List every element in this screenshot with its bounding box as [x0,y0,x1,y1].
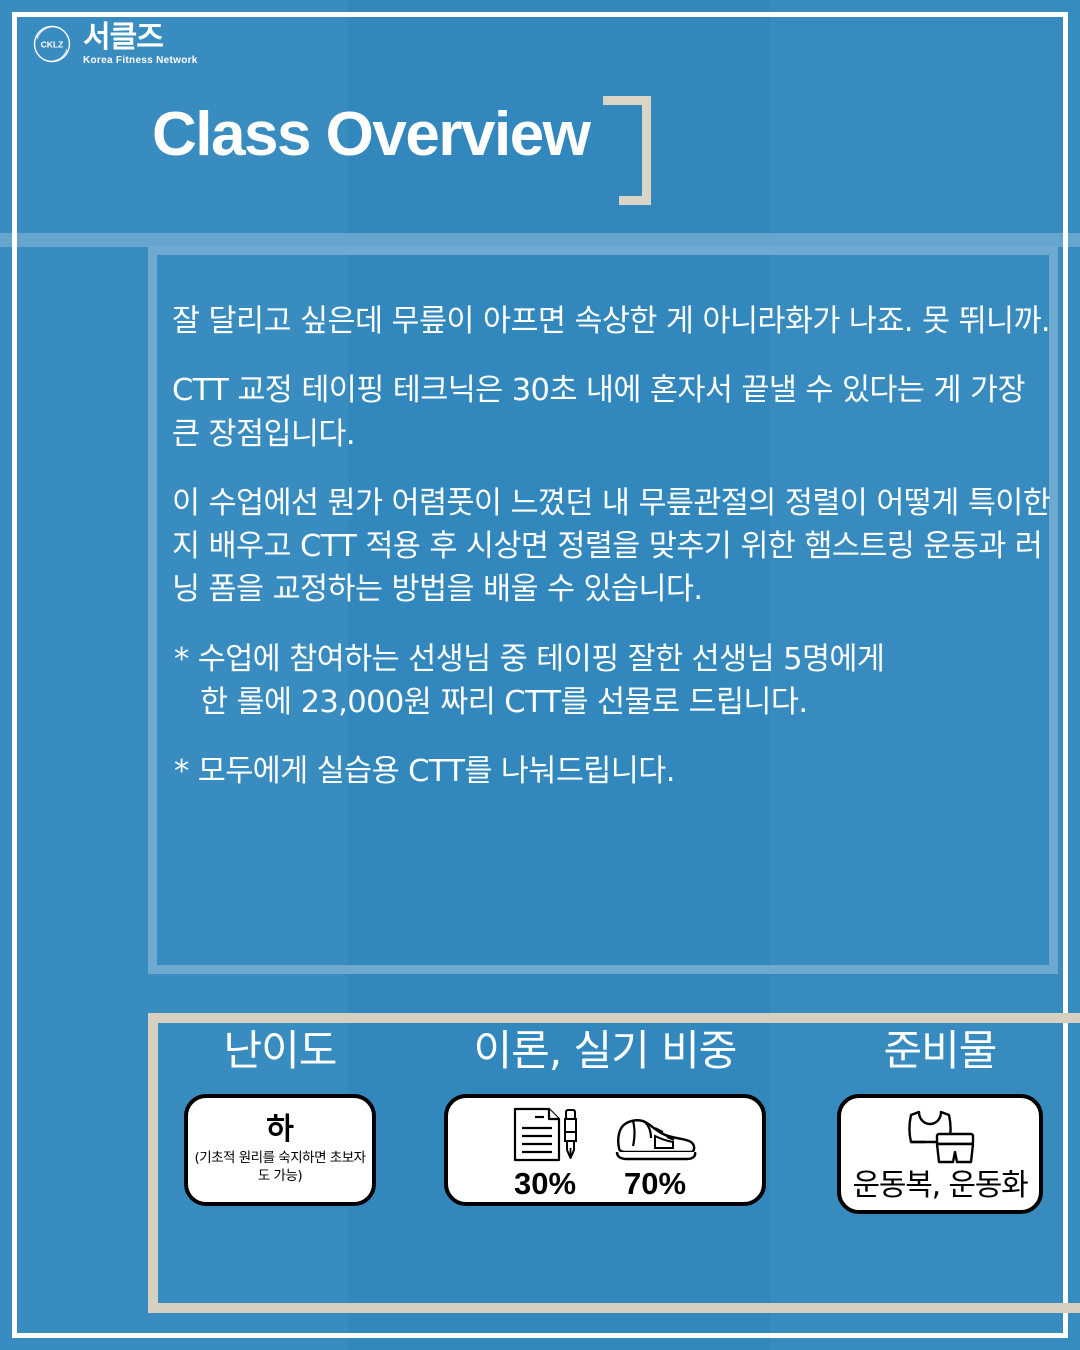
info-column-ratio: 이론, 실기 비중 [440,1030,770,1206]
difficulty-note: (기초적 원리를 숙지하면 초보자도 가능) [192,1150,368,1185]
note-gift: * 수업에 참여하는 선생님 중 테이핑 잘한 선생님 5명에게 한 롤에 23… [172,638,1052,725]
difficulty-label: 난이도 [224,1030,337,1072]
practice-percent: 70% [624,1168,686,1199]
cklz-emblem-icon: CKLZ [30,22,74,66]
supplies-card: 운동복, 운동화 [837,1094,1043,1214]
note-practice: * 모두에게 실습용 CTT를 나눠드립니다. [172,750,1052,793]
note-gift-line2: 한 롤에 23,000원 짜리 CTT를 선물로 드립니다. [174,681,1052,724]
ratio-theory: 30% [509,1104,581,1199]
note-gift-line1: * 수업에 참여하는 선생님 중 테이핑 잘한 선생님 5명에게 [174,642,884,677]
sportswear-icon [897,1107,983,1169]
document-pen-icon [509,1104,581,1164]
info-cards-row: 난이도 하 (기초적 원리를 숙지하면 초보자도 가능) 이론, 실기 비중 [170,1030,1060,1300]
ratio-label: 이론, 실기 비중 [474,1030,737,1072]
paragraph-content: 이 수업에선 뭔가 어렴풋이 느꼈던 내 무릎관절의 정렬이 어떻게 특이한지 … [172,482,1052,612]
page-title-row: Class Overview [152,102,651,196]
paragraph-ctt: CTT 교정 테이핑 테크닉은 30초 내에 혼자서 끝낼 수 있다는 게 가장… [172,369,1052,456]
ratio-card: 30% [444,1094,766,1206]
info-column-supplies: 준비물 운동복, 운동화 [820,1030,1060,1214]
info-column-difficulty: 난이도 하 (기초적 원리를 숙지하면 초보자도 가능) [170,1030,390,1206]
body-text-container: 잘 달리고 싶은데 무릎이 아프면 속상한 게 아니라화가 나죠. 못 뛰니까.… [172,300,1052,794]
brand-logo: CKLZ 서클즈 Korea Fitness Network [30,22,198,66]
running-shoe-icon [609,1104,701,1164]
background-band [0,233,1080,247]
theory-percent: 30% [514,1168,576,1199]
svg-text:CKLZ: CKLZ [41,40,64,50]
page-title: Class Overview [152,102,589,169]
ratio-practice: 70% [609,1104,701,1199]
difficulty-value: 하 [266,1115,294,1145]
difficulty-card: 하 (기초적 원리를 숙지하면 초보자도 가능) [184,1094,376,1206]
supplies-value: 운동복, 운동화 [852,1171,1027,1201]
note-practice-line1: * 모두에게 실습용 CTT를 나눠드립니다. [174,754,675,789]
title-bracket-decoration [603,96,651,196]
brand-tagline: Korea Fitness Network [83,56,198,66]
paragraph-intro: 잘 달리고 싶은데 무릎이 아프면 속상한 게 아니라화가 나죠. 못 뛰니까. [172,300,1052,343]
brand-name: 서클즈 [83,23,198,53]
supplies-label: 준비물 [884,1030,997,1072]
